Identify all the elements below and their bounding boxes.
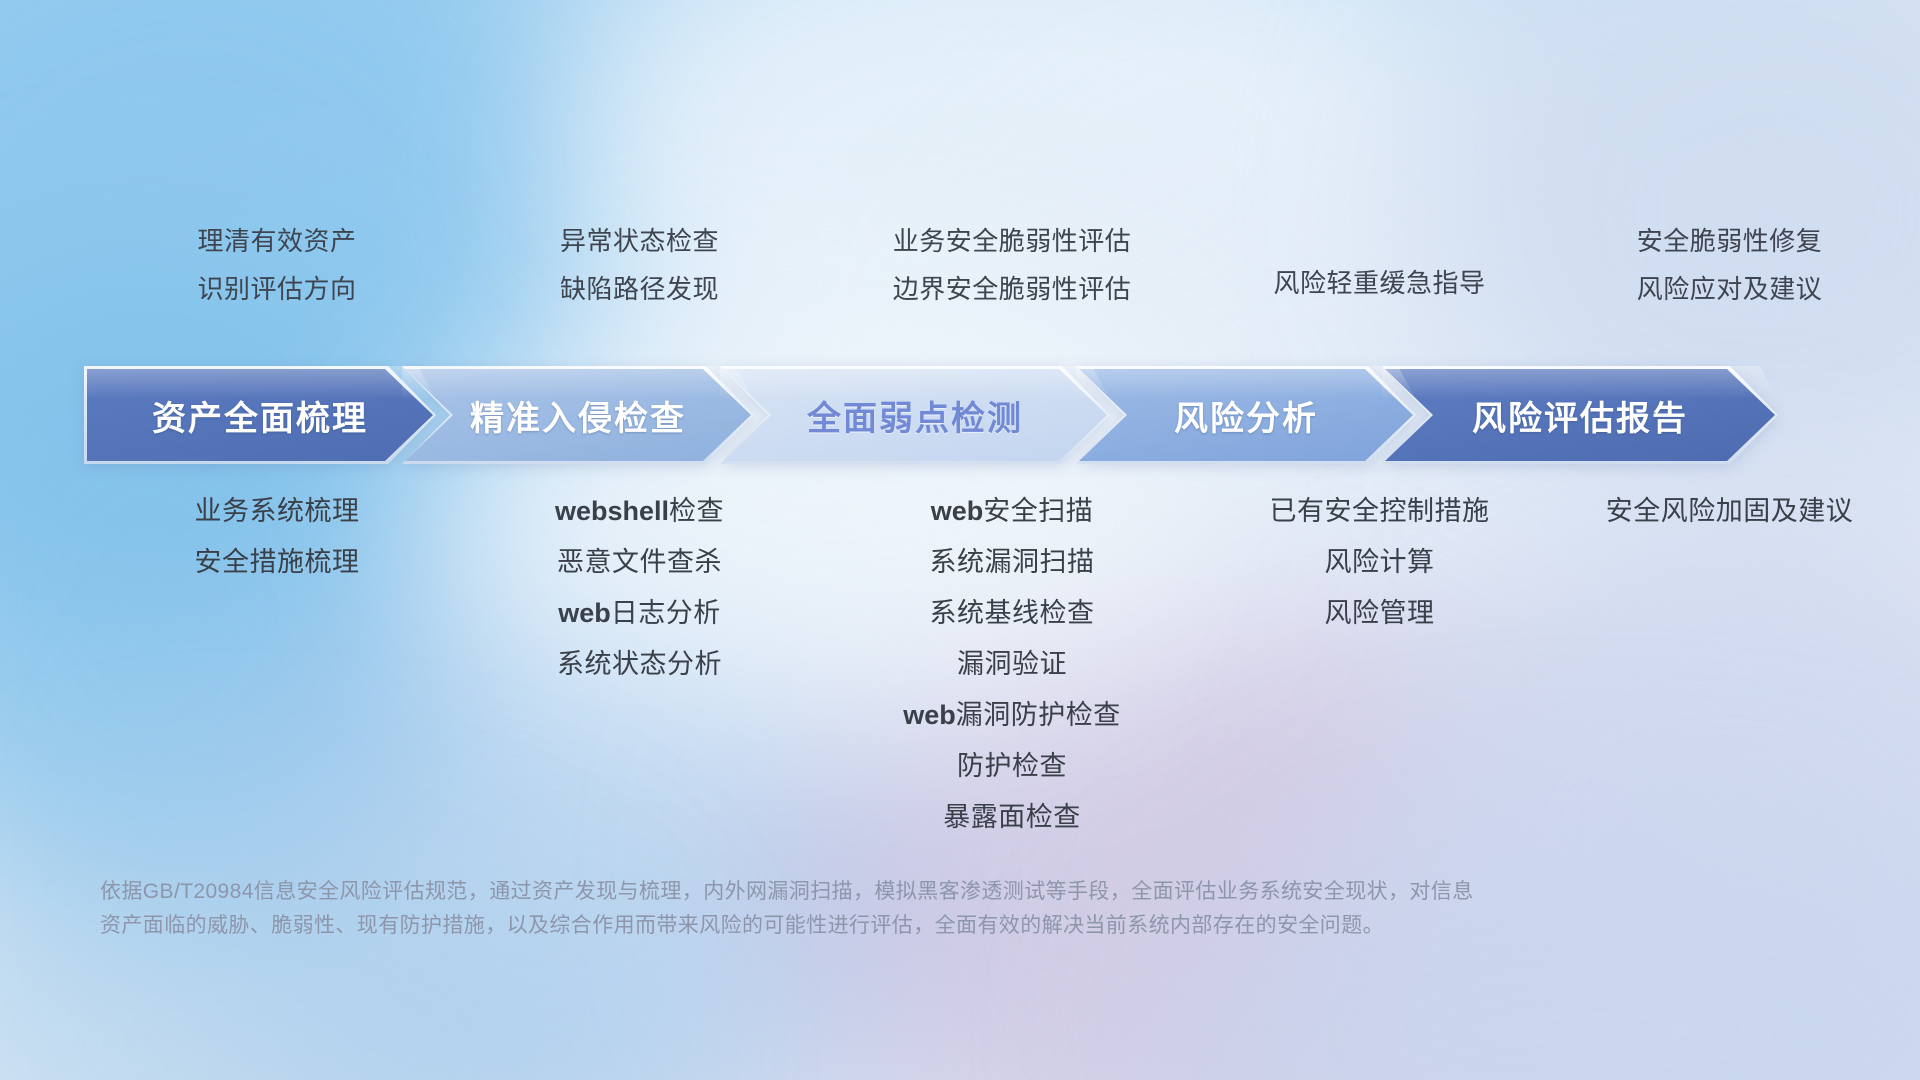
bottom-item-cjk: 恶意文件查杀 (557, 547, 722, 577)
stage-label: 全面弱点检测 (807, 391, 1023, 440)
top-item: 缺陷路径发现 (560, 276, 719, 302)
bottom-item-cjk: 检查 (669, 496, 724, 526)
top-item: 识别评估方向 (197, 276, 356, 302)
stage-label: 风险分析 (1174, 391, 1318, 440)
top-item: 风险应对及建议 (1637, 276, 1823, 302)
bottom-item-cjk: 日志分析 (611, 598, 721, 628)
top-item: 理清有效资产 (197, 228, 356, 254)
bottom-item-cjk: 安全风险加固及建议 (1606, 496, 1854, 526)
stage-chevron-risk-analysis[interactable]: 风险分析 (1076, 366, 1416, 464)
bottom-item-cjk: 漏洞防护检查 (956, 700, 1121, 730)
bottom-item: 系统基线检查 (930, 600, 1095, 627)
top-item: 安全脆弱性修复 (1637, 228, 1823, 254)
bottom-item-latin: webshell (555, 496, 669, 526)
bottom-column-weakness-detection: web安全扫描系统漏洞扫描系统基线检查漏洞验证web漏洞防护检查防护检查暴露面检… (817, 498, 1207, 831)
bottom-item-cjk: 防护检查 (957, 751, 1067, 781)
bottom-item-cjk: 漏洞验证 (957, 649, 1067, 679)
bottom-item: 恶意文件查杀 (557, 549, 722, 576)
top-column-risk-report: 安全脆弱性修复 风险应对及建议 (1552, 228, 1907, 338)
top-item: 风险轻重缓急指导 (1273, 270, 1485, 296)
process-chevron-banner: 资产全面梳理 精准入侵检查 全面弱点检测 (84, 366, 1846, 464)
bottom-item-cjk: 暴露面检查 (943, 802, 1081, 832)
bottom-item: 防护检查 (957, 753, 1067, 780)
bottom-item-latin: web (903, 700, 956, 730)
stage-chevron-risk-report[interactable]: 风险评估报告 (1382, 366, 1778, 464)
bottom-item: 安全措施梳理 (195, 549, 360, 576)
bottom-item: 漏洞验证 (957, 651, 1067, 678)
top-item: 业务安全脆弱性评估 (893, 228, 1132, 254)
footer-description: 依据GB/T20984信息安全风险评估规范，通过资产发现与梳理，内外网漏洞扫描，… (100, 875, 1600, 943)
bottom-item: webshell检查 (555, 498, 724, 525)
bottom-items-row: 业务系统梳理安全措施梳理 webshell检查恶意文件查杀web日志分析系统状态… (0, 498, 1920, 831)
top-column-risk-analysis: 风险轻重缓急指导 (1207, 228, 1552, 338)
bottom-item: 已有安全控制措施 (1270, 498, 1490, 525)
bottom-item-cjk: 安全扫描 (983, 496, 1093, 526)
bottom-item-latin: web (558, 598, 611, 628)
bottom-column-risk-analysis: 已有安全控制措施风险计算风险管理 (1207, 498, 1552, 627)
stage-chevron-weakness-detection[interactable]: 全面弱点检测 (720, 366, 1110, 464)
bottom-item-cjk: 系统状态分析 (557, 649, 722, 679)
top-item: 异常状态检查 (560, 228, 719, 254)
stage-label: 风险评估报告 (1472, 391, 1688, 440)
bottom-column-intrusion-check: webshell检查恶意文件查杀web日志分析系统状态分析 (462, 498, 817, 678)
footer-line: 资产面临的威胁、脆弱性、现有防护措施，以及综合作用而带来风险的可能性进行评估，全… (100, 909, 1600, 943)
bottom-item: 安全风险加固及建议 (1606, 498, 1854, 525)
bottom-item: web漏洞防护检查 (903, 702, 1121, 729)
top-items-row: 理清有效资产 识别评估方向 异常状态检查 缺陷路径发现 业务安全脆弱性评估 边界… (0, 228, 1920, 338)
bottom-column-risk-report: 安全风险加固及建议 (1552, 498, 1907, 525)
stage-label: 精准入侵检查 (470, 391, 686, 440)
stage-chevron-intrusion-check[interactable]: 精准入侵检查 (402, 366, 754, 464)
stage-label: 资产全面梳理 (152, 391, 368, 440)
top-item: 边界安全脆弱性评估 (893, 276, 1132, 302)
top-column-weakness-detection: 业务安全脆弱性评估 边界安全脆弱性评估 (817, 228, 1207, 338)
bottom-item: 风险计算 (1325, 549, 1435, 576)
bottom-column-asset-inventory: 业务系统梳理安全措施梳理 (92, 498, 462, 576)
bottom-item-cjk: 风险管理 (1325, 598, 1435, 628)
bottom-item-cjk: 安全措施梳理 (195, 547, 360, 577)
bottom-item-cjk: 系统漏洞扫描 (930, 547, 1095, 577)
bottom-item: 业务系统梳理 (195, 498, 360, 525)
bottom-item: 风险管理 (1325, 600, 1435, 627)
bottom-item: web日志分析 (558, 600, 721, 627)
footer-line: 依据GB/T20984信息安全风险评估规范，通过资产发现与梳理，内外网漏洞扫描，… (100, 875, 1600, 909)
top-column-asset-inventory: 理清有效资产 识别评估方向 (92, 228, 462, 338)
bottom-item-cjk: 系统基线检查 (930, 598, 1095, 628)
bottom-item-cjk: 已有安全控制措施 (1270, 496, 1490, 526)
bottom-item: 暴露面检查 (943, 804, 1081, 831)
bottom-item-cjk: 风险计算 (1325, 547, 1435, 577)
bottom-item: 系统状态分析 (557, 651, 722, 678)
top-column-intrusion-check: 异常状态检查 缺陷路径发现 (462, 228, 817, 338)
bottom-item: 系统漏洞扫描 (930, 549, 1095, 576)
stage-chevron-asset-inventory[interactable]: 资产全面梳理 (84, 366, 436, 464)
bottom-item: web安全扫描 (931, 498, 1094, 525)
infographic-stage: 理清有效资产 识别评估方向 异常状态检查 缺陷路径发现 业务安全脆弱性评估 边界… (0, 0, 1920, 1080)
bottom-item-cjk: 业务系统梳理 (195, 496, 360, 526)
bottom-item-latin: web (931, 496, 984, 526)
